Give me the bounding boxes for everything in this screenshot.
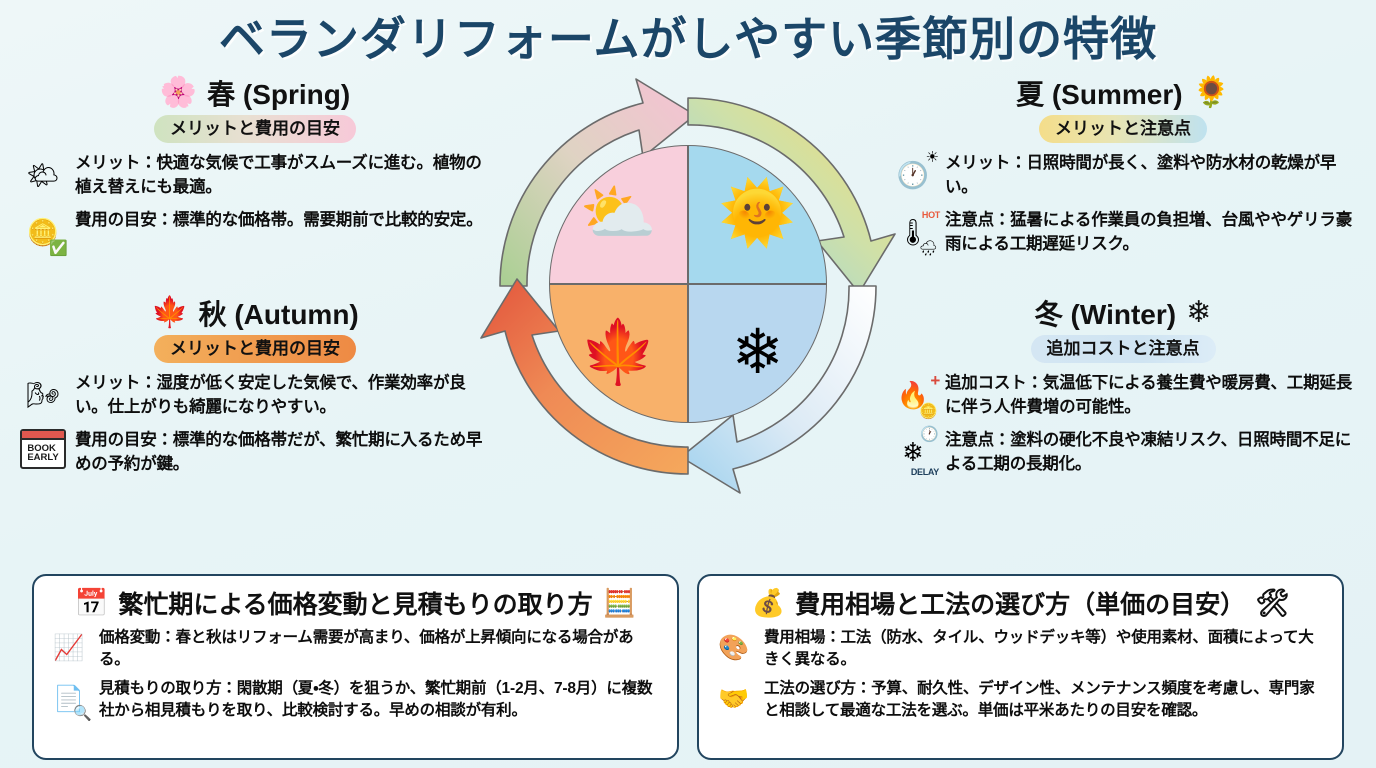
seasons-section: 🌸 春 (Spring) メリットと費用の目安 🌤 メリット：快適な気候で工事が…	[0, 65, 1376, 510]
bullet-item: 🌡 🌧 HOT 注意点：猛暑による作業員の負担増、台風ややゲリラ豪雨による工期遅…	[888, 209, 1358, 257]
season-block-spring: 🌸 春 (Spring) メリットと費用の目安 🌤 メリット：快適な気候で工事が…	[20, 73, 490, 264]
bullet-item: 🤝 工法の選び方：予算、耐久性、デザイン性、メンテナンス頻度を考慮し、専門家と相…	[713, 678, 1328, 722]
badge-wrap-spring: メリットと費用の目安	[20, 115, 490, 144]
badge-wrap-summer: メリットと注意点	[888, 115, 1358, 144]
plus-label: +	[930, 372, 940, 389]
bullet-text: メリット：湿度が低く安定した気候で、作業効率が良い。仕上がりも綺麗になりやすい。	[75, 372, 490, 420]
season-title-spring: 春 (Spring)	[207, 73, 350, 113]
sun-wind-icon: 🌤	[20, 152, 66, 198]
maple-leaf-large-icon: 🍁	[580, 322, 657, 384]
season-block-winter: 冬 (Winter) ❄ 追加コストと注意点 🔥 🪙 + 追加コスト：気温低下に…	[888, 293, 1358, 486]
calendar-label: BOOK EARLY	[27, 440, 58, 467]
magnifier-icon: 🔍	[73, 706, 92, 721]
bullet-item: 🎨 費用相場：工法（防水、タイル、ウッドデッキ等）や使用素材、面積によって大きく…	[713, 627, 1328, 671]
calendar-book-early-icon: BOOK EARLY	[20, 429, 66, 469]
bullet-text: メリット：日照時間が長く、塗料や防水材の乾燥が早い。	[945, 152, 1358, 200]
snowflake-icon: ❄	[1186, 298, 1211, 328]
cost-method-panel: 💰 費用相場と工法の選び方（単価の目安） 🛠 🎨 費用相場：工法（防水、タイル、…	[697, 574, 1344, 760]
delay-label: DELAY	[911, 468, 939, 477]
bullet-item: 🌬 メリット：湿度が低く安定した気候で、作業効率が良い。仕上がりも綺麗になりやす…	[20, 372, 490, 420]
bullet-text: 追加コスト：気温低下による養生費や暖房費、工期延長に伴う人件費増の可能性。	[945, 372, 1358, 420]
bullet-item: 🔥 🪙 + 追加コスト：気温低下による養生費や暖房費、工期延長に伴う人件費増の可…	[888, 372, 1358, 420]
page-title: ベランダリフォームがしやすい季節別の特徴	[0, 0, 1376, 65]
bullet-item: ❄ 🕐 DELAY 注意点：塗料の硬化不良や凍結リスク、日照時間不足による工期の…	[888, 429, 1358, 477]
bullet-text: 工法の選び方：予算、耐久性、デザイン性、メンテナンス頻度を考慮し、専門家と相談し…	[764, 678, 1328, 722]
tools-hand-icon: 🛠	[1255, 590, 1289, 617]
calculator-icon: 🧮	[603, 590, 637, 617]
season-title-autumn: 秋 (Autumn)	[199, 293, 359, 333]
season-badge-winter: 追加コストと注意点	[1031, 335, 1216, 364]
badge-wrap-autumn: メリットと費用の目安	[20, 335, 490, 364]
season-block-autumn: 🍁 秋 (Autumn) メリットと費用の目安 🌬 メリット：湿度が低く安定した…	[20, 293, 490, 486]
season-title-summer: 夏 (Summer)	[1016, 73, 1182, 113]
bullet-list-spring: 🌤 メリット：快適な気候で工事がスムーズに進む。植物の植え替えにも最適。 🪙 ✅…	[20, 152, 490, 255]
clock-badge-icon: 🕐	[920, 427, 939, 442]
bullet-text: 注意点：塗料の硬化不良や凍結リスク、日照時間不足による工期の長期化。	[945, 429, 1358, 477]
sun-badge-icon: ☀	[926, 150, 939, 165]
handshake-consult-icon: 🤝	[713, 678, 755, 720]
cherry-blossom-icon: 🌸	[160, 78, 197, 108]
bullet-list-summer: 🕐 ☀ メリット：日照時間が長く、塗料や防水材の乾燥が早い。 🌡 🌧 HOT 注…	[888, 152, 1358, 257]
documents-search-icon: 📄 🔍	[48, 678, 90, 720]
bullet-item: 📄 🔍 見積もりの取り方：閑散期（夏・冬）を狙うか、繁忙期前（1-2月、7-8月…	[48, 678, 663, 722]
bullet-list-autumn: 🌬 メリット：湿度が低く安定した気候で、作業効率が良い。仕上がりも綺麗になりやす…	[20, 372, 490, 477]
coins-check-icon: 🪙 ✅	[20, 209, 66, 255]
season-cycle-diagram: ⛅ 🌞 🍁 ❄	[473, 71, 903, 501]
hot-label: HOT	[922, 211, 940, 220]
bullet-item: 🕐 ☀ メリット：日照時間が長く、塗料や防水材の乾燥が早い。	[888, 152, 1358, 200]
panel-title: 繁忙期による価格変動と見積もりの取り方	[118, 585, 592, 621]
calendar-calculator-icon: 📅	[75, 590, 109, 617]
bullet-list-winter: 🔥 🪙 + 追加コスト：気温低下による養生費や暖房費、工期延長に伴う人件費増の可…	[888, 372, 1358, 477]
bullet-text: 見積もりの取り方：閑散期（夏・冬）を狙うか、繁忙期前（1-2月、7-8月）に複数…	[99, 678, 663, 722]
rain-cloud-icon: 🌧	[919, 241, 938, 256]
bullet-item: 📈 価格変動：春と秋はリフォーム需要が高まり、価格が上昇傾向になる場合がある。	[48, 627, 663, 671]
maple-leaf-icon: 🍁	[151, 298, 188, 328]
bullet-text: 費用の目安：標準的な価格帯だが、繁忙期に入るため早めの予約が鍵。	[75, 429, 490, 477]
snowflake-large-icon: ❄	[732, 322, 784, 384]
calendar-top-bar	[22, 431, 64, 440]
bottom-panels: 📅 繁忙期による価格変動と見積もりの取り方 🧮 📈 価格変動：春と秋はリフォーム…	[0, 574, 1376, 760]
chart-up-icon: 📈	[48, 627, 90, 669]
season-badge-summer: メリットと注意点	[1039, 115, 1207, 144]
check-badge-icon: ✅	[49, 241, 68, 256]
bullet-text: 費用の目安：標準的な価格帯。需要期前で比較的安定。	[75, 209, 483, 233]
money-bag-icon: 💰	[752, 590, 786, 617]
early-label: EARLY	[27, 453, 58, 463]
cost-method-panel-heading: 💰 費用相場と工法の選び方（単価の目安） 🛠	[713, 585, 1328, 621]
sunflower-icon: 🌻	[1193, 78, 1230, 108]
season-heading-summer: 夏 (Summer) 🌻	[888, 73, 1358, 113]
panel-title: 費用相場と工法の選び方（単価の目安）	[795, 585, 1245, 621]
bullet-item: 🪙 ✅ 費用の目安：標準的な価格帯。需要期前で比較的安定。	[20, 209, 490, 255]
bullet-item: 🌤 メリット：快適な気候で工事がスムーズに進む。植物の植え替えにも最適。	[20, 152, 490, 200]
bullet-item: BOOK EARLY 費用の目安：標準的な価格帯だが、繁忙期に入るため早めの予約…	[20, 429, 490, 477]
pricing-panel: 📅 繁忙期による価格変動と見積もりの取り方 🧮 📈 価格変動：春と秋はリフォーム…	[32, 574, 679, 760]
bullet-text: 費用相場：工法（防水、タイル、ウッドデッキ等）や使用素材、面積によって大きく異な…	[764, 627, 1328, 671]
material-samples-icon: 🎨	[713, 627, 755, 669]
cloud-wind-icon: 🌬	[20, 372, 66, 418]
badge-wrap-winter: 追加コストと注意点	[888, 335, 1358, 364]
pricing-panel-heading: 📅 繁忙期による価格変動と見積もりの取り方 🧮	[48, 585, 663, 621]
sun-sunflower-icon: 🌞	[719, 183, 796, 245]
season-heading-spring: 🌸 春 (Spring)	[20, 73, 490, 113]
season-block-summer: 夏 (Summer) 🌻 メリットと注意点 🕐 ☀ メリット：日照時間が長く、塗…	[888, 73, 1358, 266]
season-title-winter: 冬 (Winter)	[1035, 293, 1176, 333]
coins-badge-icon: 🪙	[919, 404, 938, 419]
bullet-text: メリット：快適な気候で工事がスムーズに進む。植物の植え替えにも最適。	[75, 152, 490, 200]
season-heading-autumn: 🍁 秋 (Autumn)	[20, 293, 490, 333]
season-badge-spring: メリットと費用の目安	[154, 115, 356, 144]
season-heading-winter: 冬 (Winter) ❄	[888, 293, 1358, 333]
season-badge-autumn: メリットと費用の目安	[154, 335, 356, 364]
bullet-text: 価格変動：春と秋はリフォーム需要が高まり、価格が上昇傾向になる場合がある。	[99, 627, 663, 671]
bullet-text: 注意点：猛暑による作業員の負担増、台風ややゲリラ豪雨による工期遅延リスク。	[945, 209, 1358, 257]
sun-cloud-landscape-icon: ⛅	[580, 183, 657, 245]
